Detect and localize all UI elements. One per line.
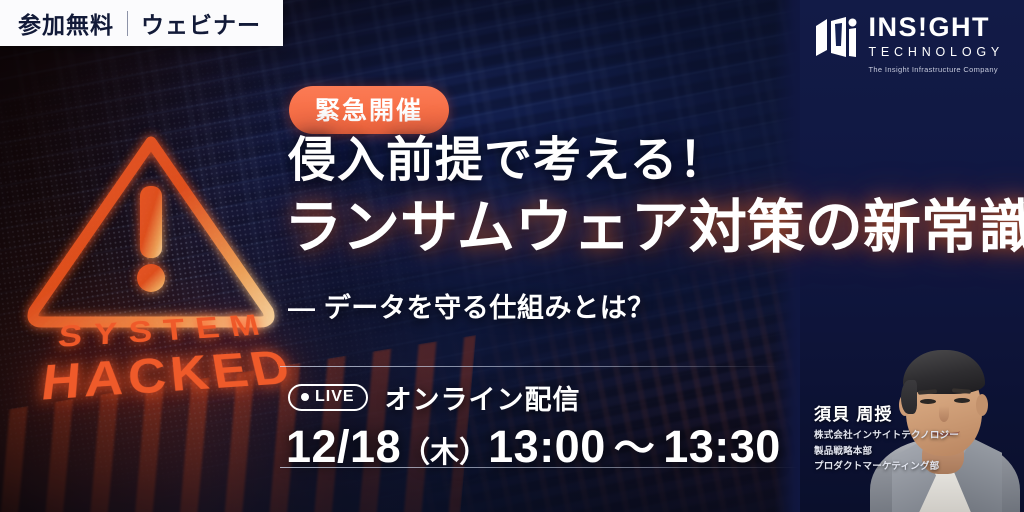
event-start-time: 13:00 (488, 421, 606, 473)
event-weekday: （木） (401, 429, 488, 471)
event-date: 12/18 (286, 421, 401, 473)
live-badge-label: LIVE (315, 388, 355, 406)
ribbon-type-label: ウェビナー (141, 6, 261, 40)
headline-line-2: ランサムウェア対策の新常識 (284, 196, 1024, 260)
broadcast-row: LIVE オンライン配信 (288, 378, 581, 417)
hero-content: 緊急開催 侵入前提で考える！ ランサムウェア対策の新常識 ― データを守る仕組み… (280, 0, 1020, 512)
broadcast-mode-label: オンライン配信 (385, 378, 581, 417)
headline-subtitle: ― データを守る仕組みとは？ (288, 286, 655, 325)
headline-line-1: 侵入前提で考える！ (288, 136, 728, 187)
live-badge: LIVE (288, 384, 368, 411)
urgent-badge: 緊急開催 (289, 86, 449, 134)
event-time-separator: 〜 (606, 414, 664, 474)
divider-bottom (280, 467, 800, 468)
live-dot-icon (301, 393, 309, 401)
webinar-banner: SYSTEM HACKED 参加無料 ウェビナー 須貝 周 (0, 0, 1024, 512)
ribbon-divider (127, 11, 128, 36)
divider-top (280, 366, 780, 367)
free-webinar-ribbon: 参加無料 ウェビナー (0, 0, 283, 46)
ribbon-free-label: 参加無料 (18, 6, 114, 40)
event-end-time: 13:30 (663, 421, 781, 473)
event-datetime: 12/18 （木） 13:00 〜 13:30 (286, 414, 781, 474)
